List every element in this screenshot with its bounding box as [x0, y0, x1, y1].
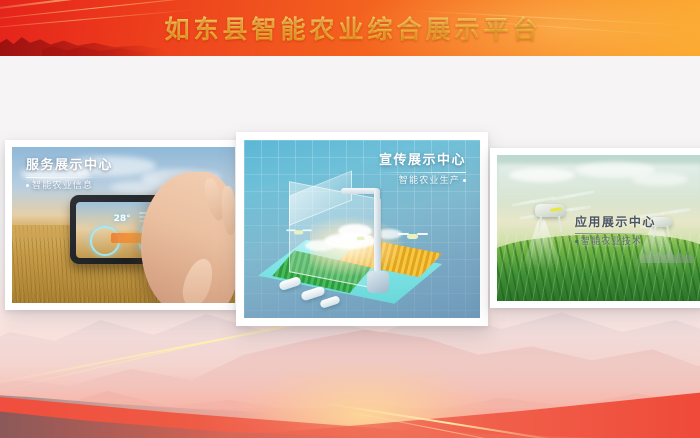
- card-promotion[interactable]: 宣传展示中心 智能农业生产: [236, 132, 488, 326]
- lamp-arm: [341, 188, 379, 194]
- card-service[interactable]: 28° 服务展示中心 智能农业信息: [5, 140, 242, 310]
- drone-icon: [288, 228, 310, 237]
- drone-leg: [538, 216, 542, 232]
- card-application-image: 应用展示中心 智能农业技术: [497, 155, 700, 301]
- card-application-text: 应用展示中心 智能农业技术: [575, 216, 656, 248]
- drone-leg: [666, 225, 670, 236]
- lamp-base: [367, 271, 389, 293]
- lamp-pole-icon: [374, 188, 380, 273]
- app-root: 如东县智能农业综合展示平台: [0, 0, 700, 438]
- card-promotion-text: 宣传展示中心 智能农业生产: [374, 154, 466, 187]
- card-application[interactable]: 应用展示中心 智能农业技术: [490, 148, 700, 308]
- header-banner: 如东县智能农业综合展示平台: [0, 0, 700, 56]
- drone-icon: [400, 231, 426, 241]
- rotor: [417, 233, 428, 235]
- drone-body: [294, 231, 303, 235]
- card-service-title: 服务展示中心: [26, 159, 113, 174]
- divider: [26, 177, 110, 178]
- card-service-subtitle: 智能农业信息: [26, 181, 113, 192]
- card-application-subtitle-text: 智能农业技术: [581, 237, 642, 247]
- drone-leg: [558, 216, 562, 232]
- thumb-icon: [178, 255, 217, 303]
- divider: [374, 172, 466, 173]
- rotor: [364, 235, 372, 236]
- card-promotion-subtitle: 智能农业生产: [374, 176, 466, 187]
- card-service-image: 28° 服务展示中心 智能农业信息: [12, 147, 235, 303]
- page-title: 如东县智能农业综合展示平台: [0, 0, 700, 56]
- rotor: [303, 230, 312, 232]
- rotor: [551, 190, 595, 201]
- card-promotion-subtitle-text: 智能农业生产: [399, 176, 460, 186]
- bullet-dot-icon: [463, 179, 466, 182]
- card-promotion-title: 宣传展示中心: [374, 154, 466, 169]
- hud-temperature: 28°: [114, 214, 131, 224]
- bullet-dot-icon: [26, 184, 29, 187]
- card-application-subtitle: 智能农业技术: [575, 237, 656, 248]
- card-promotion-image: 宣传展示中心 智能农业生产: [244, 140, 480, 318]
- rotor: [661, 207, 691, 214]
- card-service-subtitle-text: 智能农业信息: [32, 181, 93, 191]
- drone-icon: [352, 234, 370, 241]
- finger-icon: [220, 186, 235, 236]
- cloud-icon: [632, 173, 688, 186]
- card-application-title: 应用展示中心: [575, 216, 656, 230]
- divider: [575, 233, 649, 234]
- bullet-dot-icon: [575, 240, 578, 243]
- card-service-text: 服务展示中心 智能农业信息: [26, 159, 113, 192]
